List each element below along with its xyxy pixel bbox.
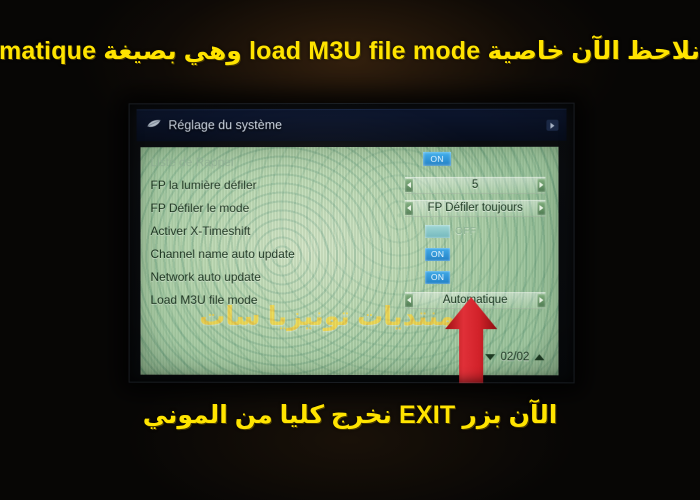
liste-de-rappel-toggle[interactable]: ON xyxy=(423,151,451,165)
row-control: ON xyxy=(405,246,545,262)
row-label: Network auto update xyxy=(150,270,400,284)
top-caption: نلاحظ الآن خاصية load M3U file mode وهي … xyxy=(0,34,700,68)
channel-name-auto-update-toggle[interactable]: ON xyxy=(425,248,455,261)
settings-row-channel-name-auto-update[interactable]: Channel name auto update ON xyxy=(150,245,548,264)
page-indicator-label: 02/02 xyxy=(500,351,529,363)
row-label: Channel name auto update xyxy=(150,247,400,261)
toggle-switch xyxy=(425,225,450,238)
settings-row-fp-defiler-le-mode[interactable]: FP Défiler le mode FP Défiler toujours xyxy=(150,199,548,218)
row-control: FP Défiler toujours xyxy=(405,200,545,216)
row-control: OFF xyxy=(405,223,545,239)
row-control: ON xyxy=(405,269,545,285)
page-indicator: 02/02 xyxy=(485,351,544,363)
arrow-left-icon[interactable] xyxy=(405,202,413,215)
row-label: FP la lumière défiler xyxy=(150,178,400,192)
arrow-right-icon[interactable] xyxy=(537,202,545,215)
spinner-value: FP Défiler toujours xyxy=(413,202,537,214)
right-arrow-icon[interactable] xyxy=(546,120,558,131)
tv-screen: Réglage du système Liste de Rappel ON FP… xyxy=(129,103,575,384)
chevron-down-icon[interactable] xyxy=(485,354,495,360)
menu-header-bar: Réglage du système xyxy=(137,109,567,142)
settings-row-liste-de-rappel[interactable]: Liste de Rappel xyxy=(150,153,548,172)
red-up-arrow-icon xyxy=(443,295,499,383)
toggle-label: OFF xyxy=(455,226,476,237)
settings-panel: Liste de Rappel ON FP la lumière défiler… xyxy=(141,147,559,376)
arrow-left-icon[interactable] xyxy=(405,179,413,192)
timeshift-toggle[interactable]: OFF xyxy=(425,225,476,238)
leaf-icon xyxy=(146,119,161,129)
settings-row-fp-lumiere-defiler[interactable]: FP la lumière défiler 5 xyxy=(150,176,548,195)
row-label: Activer X-Timeshift xyxy=(150,224,400,238)
toggle-switch: ON xyxy=(425,248,450,261)
row-control: 5 xyxy=(405,177,545,193)
arrow-right-icon[interactable] xyxy=(537,179,545,192)
toggle-switch: ON xyxy=(425,271,450,284)
row-label: FP Défiler le mode xyxy=(150,201,400,215)
bottom-caption: الآن بزر EXIT نخرج كليا من الموني xyxy=(0,398,700,432)
arrow-right-icon[interactable] xyxy=(537,294,545,307)
row-label: Liste de Rappel xyxy=(150,155,400,169)
spinner-value: 5 xyxy=(413,179,537,191)
chevron-up-icon[interactable] xyxy=(534,354,544,360)
settings-row-network-auto-update[interactable]: Network auto update ON xyxy=(150,268,548,287)
page-title: Réglage du système xyxy=(168,117,282,133)
settings-row-activer-x-timeshift[interactable]: Activer X-Timeshift OFF xyxy=(150,222,548,241)
spinner: 5 xyxy=(405,177,545,194)
network-auto-update-toggle[interactable]: ON xyxy=(425,271,455,284)
spinner: FP Défiler toujours xyxy=(405,200,545,217)
